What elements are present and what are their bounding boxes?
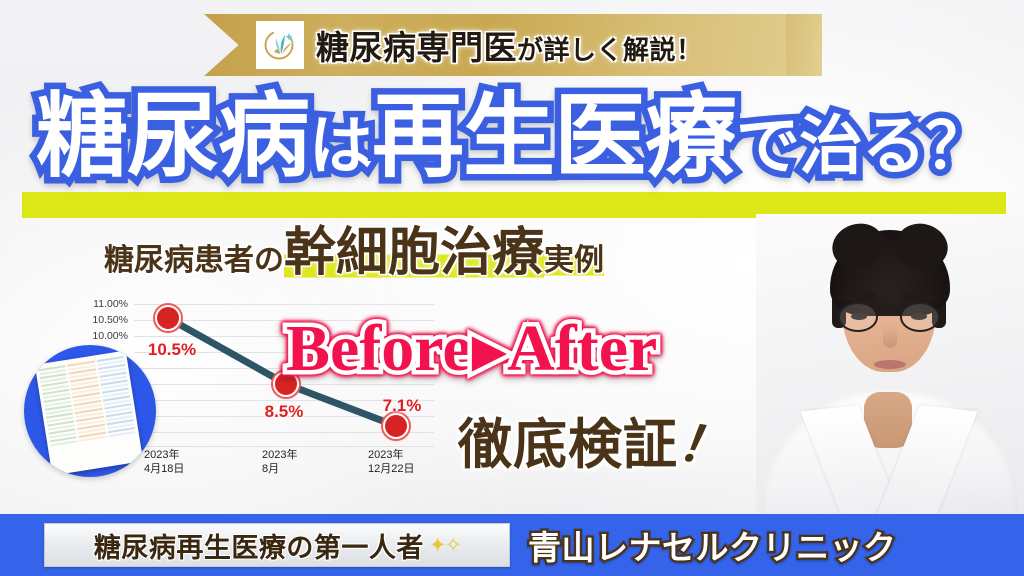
thumbnail-canvas: 糖尿病専門医が詳しく解説！ 糖尿病は再生医療で治る？ 糖尿病患者の幹細胞治療実例…	[0, 0, 1024, 576]
verify-text: 徹底検証	[458, 415, 678, 475]
gold-ribbon-banner: 糖尿病専門医が詳しく解説！	[204, 14, 822, 76]
data-point-label: 7.1%	[383, 396, 422, 416]
doctor-portrait	[756, 214, 1024, 514]
page-title: 糖尿病は再生医療で治る？	[0, 86, 1024, 189]
clinic-leaf-logo-icon	[256, 21, 304, 69]
y-axis-tick: 10.00%	[92, 330, 128, 342]
subtitle-lead: 糖尿病患者の	[104, 244, 284, 277]
y-axis-tick: 10.50%	[92, 314, 128, 326]
data-point-marker	[155, 305, 181, 331]
data-point-label: 10.5%	[148, 340, 196, 360]
x-axis-tick: 2023年 12月22日	[368, 448, 414, 476]
headline-part2: 再生医療	[372, 86, 736, 188]
sparkle-icon: ✦✧	[429, 533, 460, 558]
subtitle: 糖尿病患者の幹細胞治療実例	[104, 228, 604, 280]
y-axis-tick: 11.00%	[93, 298, 128, 310]
after-text: After	[507, 312, 657, 385]
verify-label: 徹底検証！	[458, 418, 729, 472]
subtitle-emphasis: 幹細胞治療	[284, 225, 544, 282]
ribbon-title: 糖尿病専門医が詳しく解説！	[316, 21, 703, 69]
x-axis-tick: 2023年 4月18日	[144, 448, 184, 476]
glasses-bridge	[879, 313, 899, 316]
authority-plaque: 糖尿病再生医療の第一人者 ✦✧	[44, 523, 510, 567]
clinic-name: 青山レナセルクリニック	[528, 521, 897, 569]
lab-report-document	[35, 350, 143, 475]
headline-kana1: は	[309, 111, 372, 182]
lens-left	[838, 302, 878, 332]
before-after-label: Before▶After	[286, 316, 657, 382]
verify-exclaim: ！	[674, 417, 732, 474]
headline-part1: 糖尿病	[36, 86, 309, 188]
data-point-label: 8.5%	[265, 402, 304, 422]
arrow-right-icon: ▶	[472, 325, 507, 376]
nose	[883, 326, 897, 348]
lens-right	[900, 302, 940, 332]
x-axis-tick: 2023年 8月	[262, 448, 297, 476]
data-point-marker	[383, 413, 409, 439]
ribbon-title-main: 糖尿病専門医	[316, 31, 517, 67]
mouth	[874, 360, 906, 369]
headline-kana2: で治る？	[736, 111, 988, 182]
plaque-text: 糖尿病再生医療の第一人者	[94, 526, 424, 565]
ribbon-title-small: が詳しく解説！	[517, 36, 703, 65]
lab-report-photo	[24, 345, 156, 477]
bottom-bar: 糖尿病再生医療の第一人者 ✦✧ 青山レナセルクリニック	[0, 514, 1024, 576]
before-text: Before	[286, 312, 472, 385]
subtitle-tail: 実例	[544, 244, 604, 277]
